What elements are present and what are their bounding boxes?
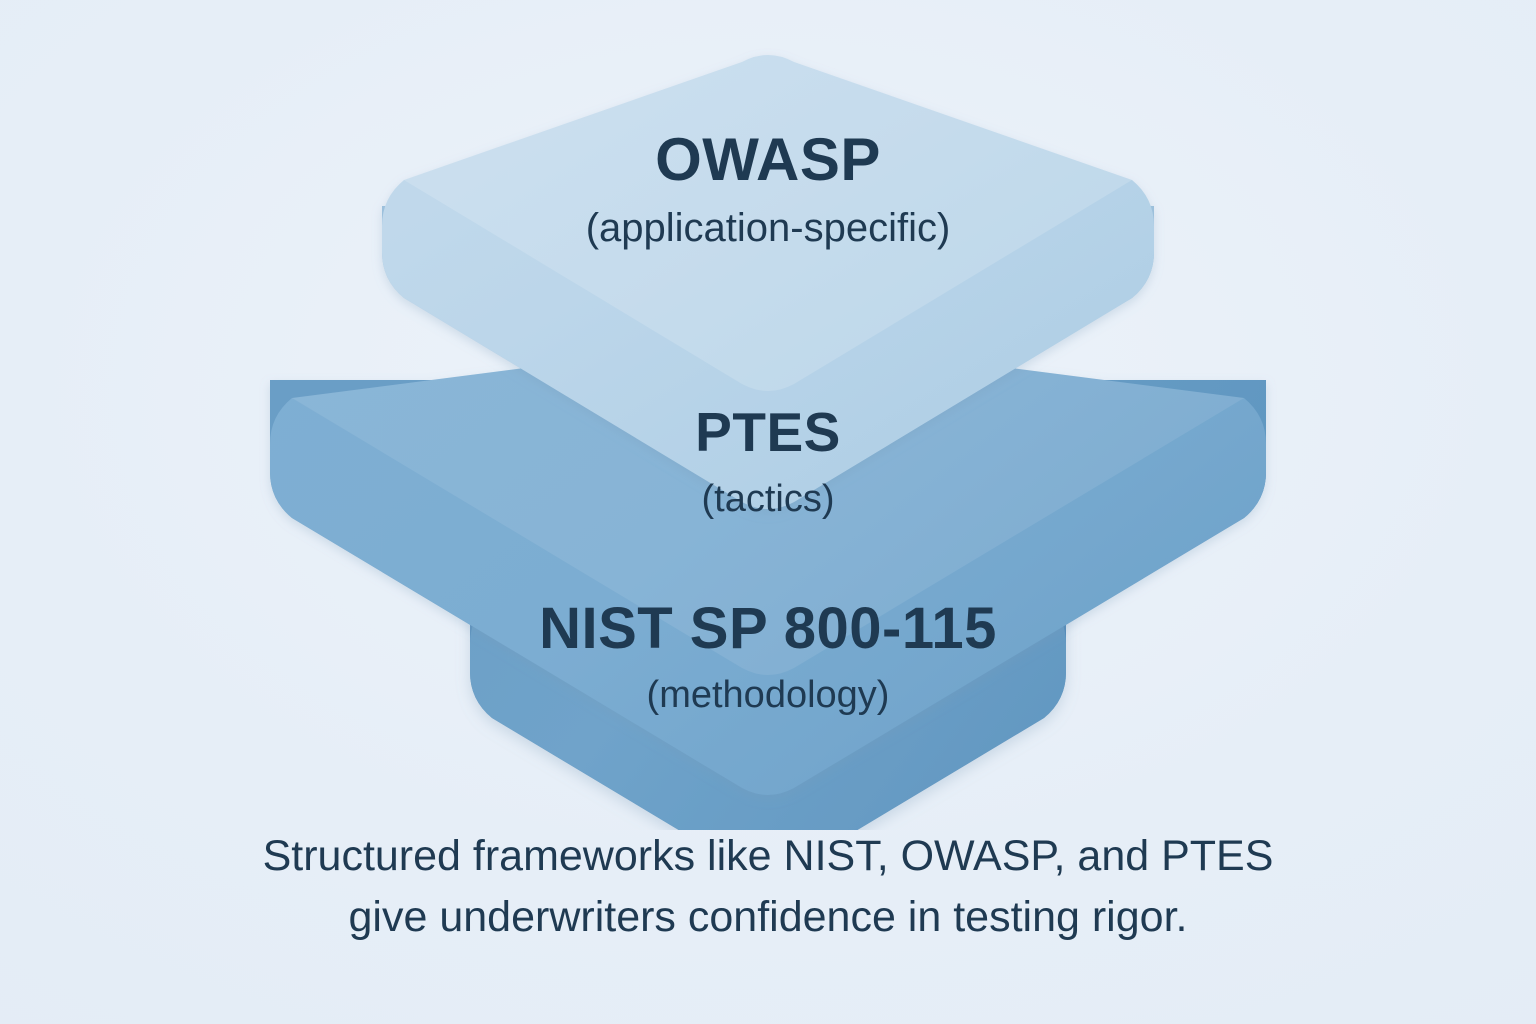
layer-subtitle-ptes: (tactics) (0, 480, 1536, 518)
layer-label-owasp: OWASP (application-specific) (0, 130, 1536, 248)
layer-title-ptes: PTES (0, 405, 1536, 460)
layer-subtitle-owasp: (application-specific) (0, 208, 1536, 248)
layer-subtitle-nist: (methodology) (0, 676, 1536, 714)
layer-title-nist: NIST SP 800-115 (0, 600, 1536, 658)
layer-label-ptes: PTES (tactics) (0, 405, 1536, 518)
diagram-canvas: OWASP (application-specific) PTES (tacti… (0, 0, 1536, 1024)
layer-title-owasp: OWASP (0, 130, 1536, 190)
diagram-caption: Structured frameworks like NIST, OWASP, … (108, 826, 1428, 948)
caption-line-1: Structured frameworks like NIST, OWASP, … (108, 826, 1428, 887)
caption-line-2: give underwriters confidence in testing … (108, 887, 1428, 948)
layer-label-nist: NIST SP 800-115 (methodology) (0, 600, 1536, 714)
